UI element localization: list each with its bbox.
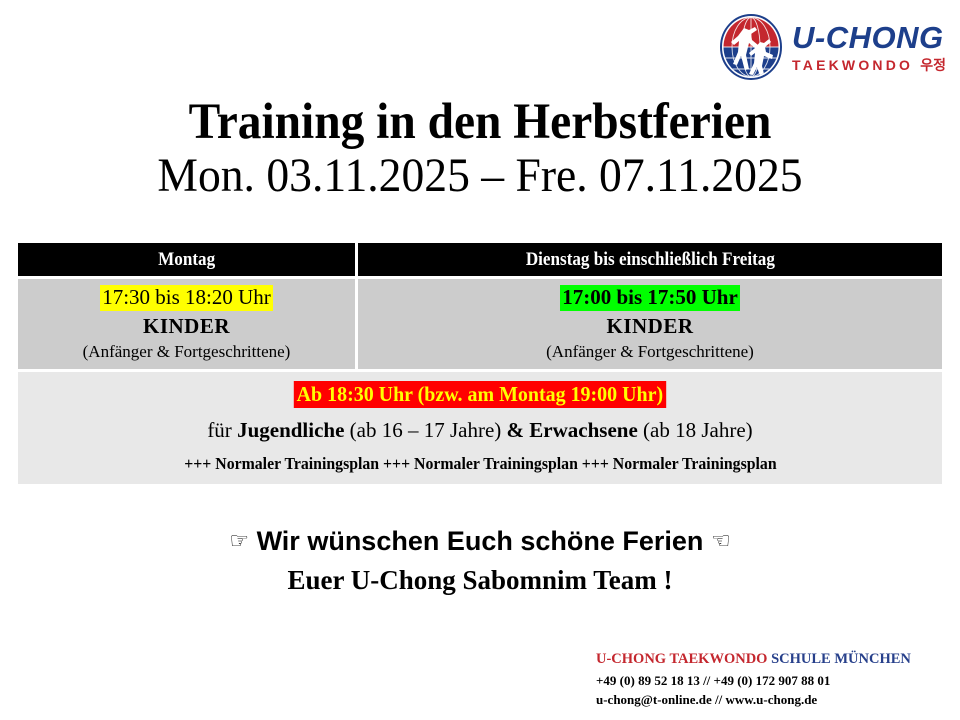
footer-name-red: U-CHONG TAEKWONDO <box>596 651 771 667</box>
footer-contact-block: U-CHONG TAEKWONDO SCHULE MÜNCHEN +49 (0)… <box>596 649 946 710</box>
logo-brand-name: U-CHONG <box>792 22 944 53</box>
logo-wordmark: U-CHONG TAEKWONDO 우정 <box>792 22 946 72</box>
schedule-table: Montag Dienstag bis einschließlich Freit… <box>18 243 942 484</box>
tuefri-kids-levels: (Anfänger & Fortgeschrittene) <box>546 342 754 362</box>
taekwondo-globe-emblem <box>720 14 782 80</box>
table-row-kids: 17:30 bis 18:20 Uhr KINDER (Anfänger & F… <box>18 279 942 369</box>
closing-signature: Euer U-Chong Sabomnim Team ! <box>0 562 960 598</box>
adults-plan-wrap: +++ Normaler Trainingsplan +++ Normaler … <box>18 443 942 474</box>
adults-time: Ab 18:30 Uhr (bzw. am Montag 19:00 Uhr) <box>294 381 666 408</box>
footer-school-name: U-CHONG TAEKWONDO SCHULE MÜNCHEN <box>596 649 946 671</box>
logo-brand-sub: TAEKWONDO 우정 <box>792 58 946 72</box>
footer-phone: +49 (0) 89 52 18 13 // +49 (0) 172 907 8… <box>596 671 946 691</box>
closing-wish-line: ☞ Wir wünschen Euch schöne Ferien ☞ <box>0 524 960 559</box>
monday-kids-time: 17:30 bis 18:20 Uhr <box>100 285 273 311</box>
adults-youth-age: (ab 16 – 17 Jahre) <box>344 418 506 442</box>
column-header-tuesday-friday: Dienstag bis einschließlich Freitag <box>358 243 942 276</box>
logo-sub-latin: TAEKWONDO <box>792 57 913 73</box>
pointing-hand-left-icon: ☞ <box>229 529 249 554</box>
footer-email-web: u-chong@t-online.de // www.u-chong.de <box>596 690 946 710</box>
closing-message: ☞ Wir wünschen Euch schöne Ferien ☞ Euer… <box>0 524 960 598</box>
pointing-hand-right-icon: ☞ <box>711 528 731 557</box>
monday-kids-group: KINDER <box>143 314 230 339</box>
footer-name-blue: SCHULE MÜNCHEN <box>771 651 911 667</box>
title-date-range: Mon. 03.11.2025 – Fre. 07.11.2025 <box>24 149 936 203</box>
adults-adults: Erwachsene <box>524 418 638 442</box>
page-title: Training in den Herbstferien Mon. 03.11.… <box>0 96 960 203</box>
logo-sub-korean: 우정 <box>920 57 946 73</box>
adults-youth: Jugendliche <box>237 418 344 442</box>
title-headline: Training in den Herbstferien <box>34 96 927 149</box>
cell-monday-kids: 17:30 bis 18:20 Uhr KINDER (Anfänger & F… <box>18 279 355 369</box>
monday-kids-levels: (Anfänger & Fortgeschrittene) <box>83 342 291 362</box>
tuefri-kids-group: KINDER <box>606 314 693 339</box>
cell-tuefri-kids: 17:00 bis 17:50 Uhr KINDER (Anfänger & F… <box>358 279 942 369</box>
tuefri-kids-time: 17:00 bis 17:50 Uhr <box>560 285 740 311</box>
brand-logo: U-CHONG TAEKWONDO 우정 <box>720 14 946 80</box>
adults-adults-age: (ab 18 Jahre) <box>638 418 753 442</box>
adults-ampersand: & <box>507 418 525 442</box>
normal-training-plan-note: +++ Normaler Trainingsplan +++ Normaler … <box>184 454 776 474</box>
table-header-row: Montag Dienstag bis einschließlich Freit… <box>18 243 942 276</box>
closing-wish-text: Wir wünschen Euch schöne Ferien <box>257 526 704 556</box>
adults-prefix: für <box>207 418 237 442</box>
table-row-adults: Ab 18:30 Uhr (bzw. am Montag 19:00 Uhr) … <box>18 372 942 484</box>
adults-groups-line: für Jugendliche (ab 16 – 17 Jahre) & Erw… <box>18 418 942 443</box>
adults-time-wrap: Ab 18:30 Uhr (bzw. am Montag 19:00 Uhr) <box>18 381 942 408</box>
column-header-monday: Montag <box>18 243 355 276</box>
